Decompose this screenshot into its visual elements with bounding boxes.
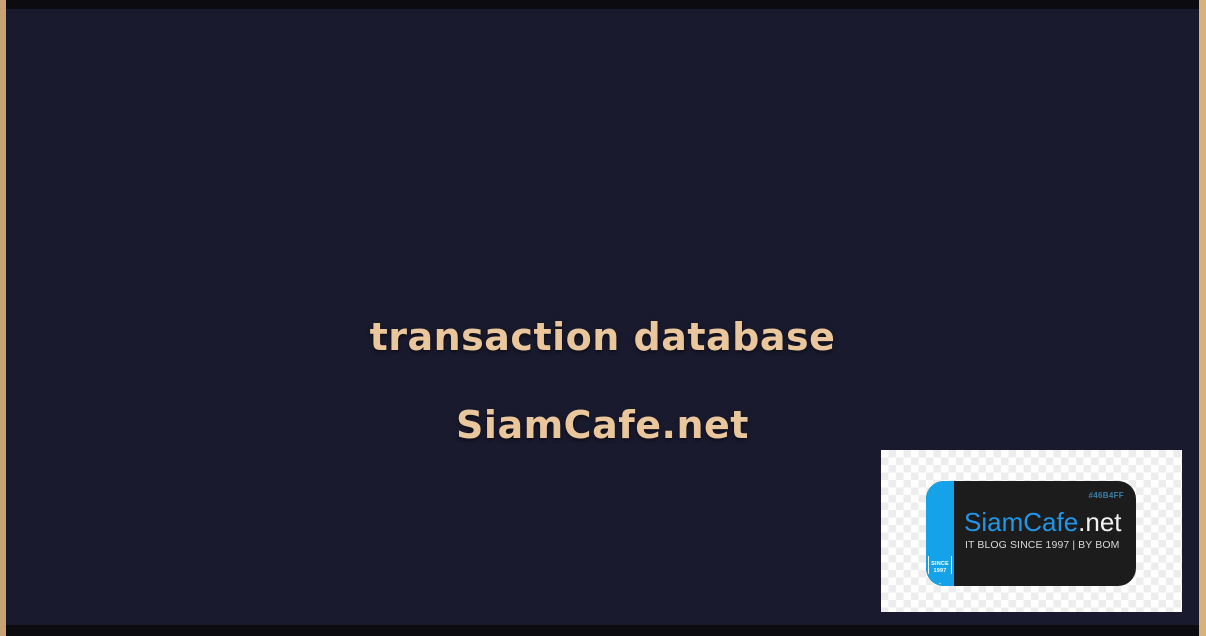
logo-text-block: #46B4FF SiamCafe.net IT BLOG SINCE 1997 … bbox=[964, 481, 1128, 586]
page-title-line-2: SiamCafe.net bbox=[6, 403, 1199, 447]
letterbox-band: transaction database SiamCafe.net SINCE … bbox=[6, 0, 1199, 636]
brand-wordmark-tld: .net bbox=[1078, 507, 1121, 537]
brand-hex-code-label: #46B4FF bbox=[1089, 491, 1124, 500]
content-stage: transaction database SiamCafe.net SINCE … bbox=[6, 9, 1199, 625]
page-title-line-1: transaction database bbox=[6, 315, 1199, 359]
since-badge-line-1: SINCE bbox=[929, 561, 951, 568]
page-frame: transaction database SiamCafe.net SINCE … bbox=[0, 0, 1206, 636]
since-1997-badge-icon: SINCE 1997 bbox=[928, 556, 952, 584]
brand-wordmark: SiamCafe.net bbox=[964, 508, 1122, 536]
brand-wordmark-name: SiamCafe bbox=[964, 507, 1078, 537]
since-badge-line-2: 1997 bbox=[929, 568, 951, 575]
logo-body: SINCE 1997 #46B4FF SiamCafe.net IT BLOG … bbox=[926, 481, 1136, 586]
logo-accent-stripe: SINCE 1997 bbox=[926, 481, 954, 586]
brand-tagline: IT BLOG SINCE 1997 | BY BOM bbox=[965, 539, 1119, 551]
siamcafe-logo-card: SINCE 1997 #46B4FF SiamCafe.net IT BLOG … bbox=[881, 450, 1182, 612]
